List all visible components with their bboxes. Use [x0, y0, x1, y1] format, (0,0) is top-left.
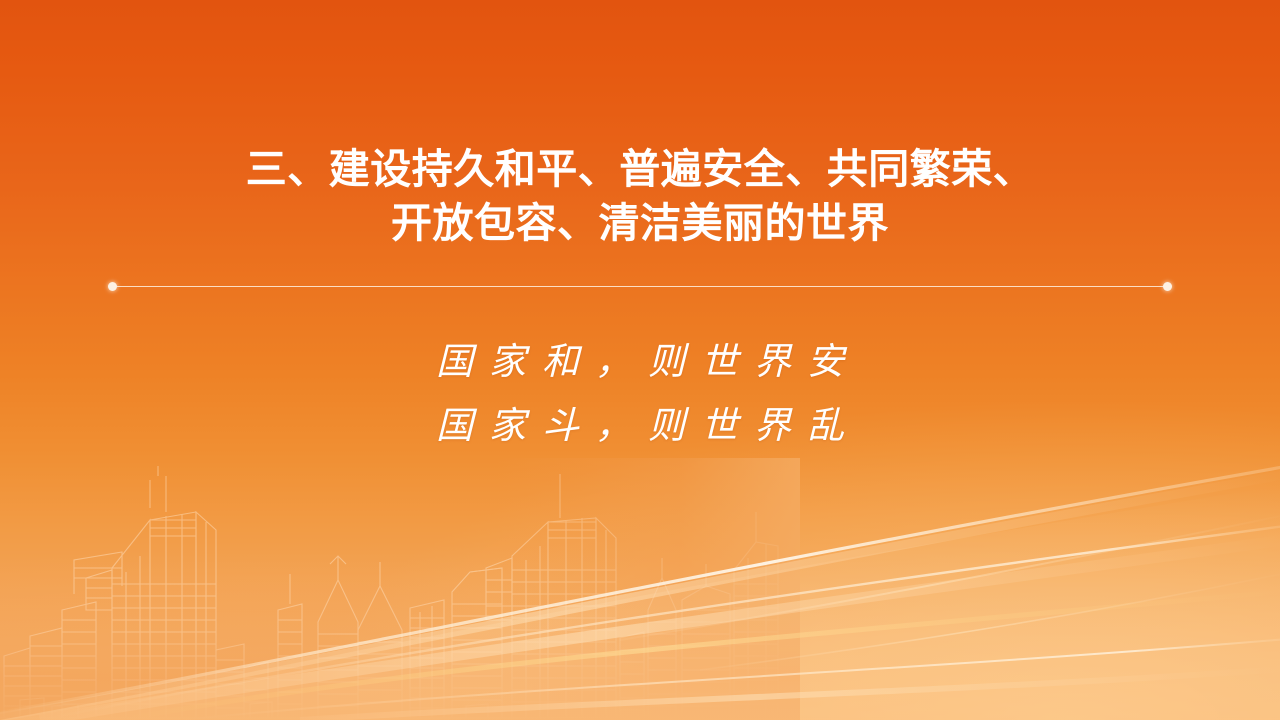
ribbons-svg	[0, 420, 1280, 720]
ribbon-wisp-2	[700, 570, 1280, 670]
ribbon-curve-2	[40, 524, 1280, 720]
ribbon-wisp-1	[620, 512, 1280, 640]
title-line-2: 开放包容、清洁美丽的世界	[0, 196, 1280, 250]
slide-title: 三、建设持久和平、普遍安全、共同繁荣、 开放包容、清洁美丽的世界	[0, 142, 1280, 250]
ribbon-curve-1	[0, 464, 1280, 716]
background-glow	[0, 374, 1280, 720]
divider-node-left-icon	[108, 282, 117, 291]
presentation-slide: 三、建设持久和平、普遍安全、共同繁荣、 开放包容、清洁美丽的世界 国家和，则世界…	[0, 0, 1280, 720]
ribbon-curve-3	[180, 638, 1280, 720]
skyline-svg	[0, 460, 780, 720]
skyline-fade-mask	[0, 458, 800, 720]
light-ribbons-graphic	[0, 420, 1280, 720]
ribbon-glow-body	[0, 486, 1280, 720]
ribbon-curve-4	[300, 668, 1280, 720]
divider-node-right-icon	[1163, 282, 1172, 291]
divider-rule	[116, 286, 1164, 287]
title-line-1: 三、建设持久和平、普遍安全、共同繁荣、	[0, 142, 1280, 196]
quote-line-2: 国家斗，则世界乱	[0, 394, 1280, 458]
quote-line-1: 国家和，则世界安	[0, 330, 1280, 394]
ribbon-curve-gold	[120, 590, 1280, 720]
ribbon-curve-2-halo	[40, 538, 1280, 720]
ribbon-curve-1-halo	[0, 472, 1280, 720]
city-skyline-graphic	[0, 460, 780, 720]
title-divider	[110, 286, 1170, 288]
slide-quote: 国家和，则世界安 国家斗，则世界乱	[0, 330, 1280, 458]
